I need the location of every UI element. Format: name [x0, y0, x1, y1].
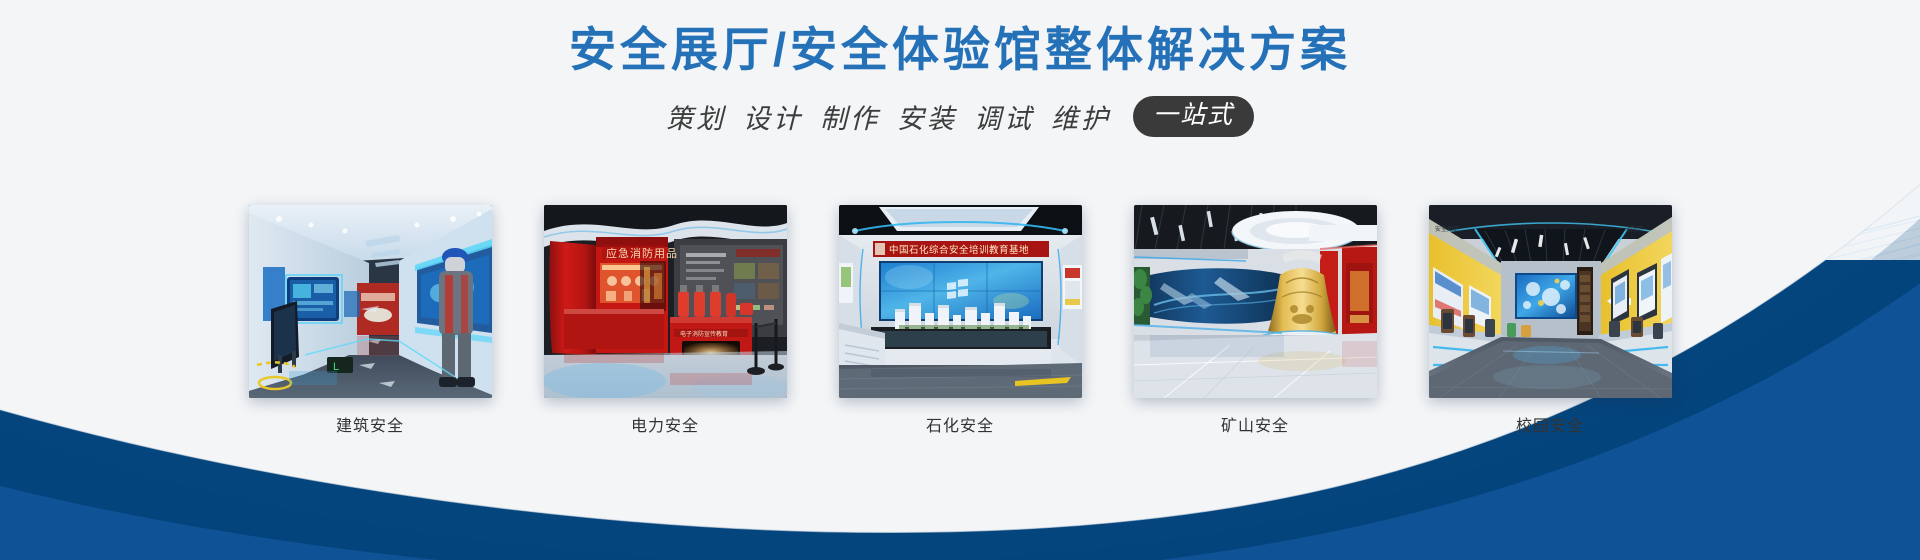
subtitle-word-3: 制作 [820, 97, 880, 136]
subtitle-word-1: 策划 [666, 97, 726, 136]
svg-text:电子消防宣传教育: 电子消防宣传教育 [680, 330, 728, 338]
campus-safety-exhibition-hall-image[interactable]: 安全知识 消防知 [1429, 205, 1672, 398]
petrochemical-safety-exhibition-hall-image[interactable]: 中国石化综合安全培训教育基地 [839, 205, 1082, 398]
case-card-electric-power[interactable]: 应急消防用品 [544, 205, 787, 436]
case-caption-construction: 建筑安全 [249, 412, 492, 436]
construction-safety-exhibition-hall-image[interactable]: L [249, 205, 492, 398]
svg-text:中国石化综合安全培训教育基地: 中国石化综合安全培训教育基地 [889, 244, 1029, 256]
mining-safety-exhibition-hall-image[interactable] [1134, 205, 1377, 398]
one-stop-badge: 一站式 [1133, 96, 1254, 137]
case-card-petrochemical[interactable]: 中国石化综合安全培训教育基地 [839, 205, 1082, 436]
case-card-mining[interactable]: 矿山安全 [1134, 205, 1377, 436]
svg-text:安全知识: 安全知识 [1435, 225, 1459, 233]
case-caption-electric-power: 电力安全 [544, 412, 787, 436]
case-caption-petrochemical: 石化安全 [839, 412, 1082, 436]
svg-text:应急消防用品: 应急消防用品 [606, 246, 678, 260]
case-card-construction[interactable]: L 建筑安全 [249, 205, 492, 436]
subtitle-row: 策划 设计 制作 安装 调试 维护 一站式 [0, 96, 1920, 137]
subtitle-word-2: 设计 [743, 97, 803, 136]
subtitle-word-5: 调试 [974, 97, 1034, 136]
subtitle-word-6: 维护 [1051, 97, 1111, 136]
safety-exhibition-banner: 安全展厅/安全体验馆整体解决方案 策划 设计 制作 安装 调试 维护 一站式 [0, 0, 1920, 560]
svg-text:消防知: 消防知 [1625, 225, 1643, 233]
subtitle-word-4: 安装 [897, 97, 957, 136]
case-caption-campus: 校园安全 [1429, 412, 1672, 436]
headline-block: 安全展厅/安全体验馆整体解决方案 策划 设计 制作 安装 调试 维护 一站式 [0, 22, 1920, 137]
electric-power-safety-exhibition-hall-image[interactable]: 应急消防用品 [544, 205, 787, 398]
case-caption-mining: 矿山安全 [1134, 412, 1377, 436]
case-card-campus[interactable]: 安全知识 消防知 [1429, 205, 1672, 436]
case-thumbnail-row: L 建筑安全 [0, 205, 1920, 436]
page-title: 安全展厅/安全体验馆整体解决方案 [0, 22, 1920, 78]
